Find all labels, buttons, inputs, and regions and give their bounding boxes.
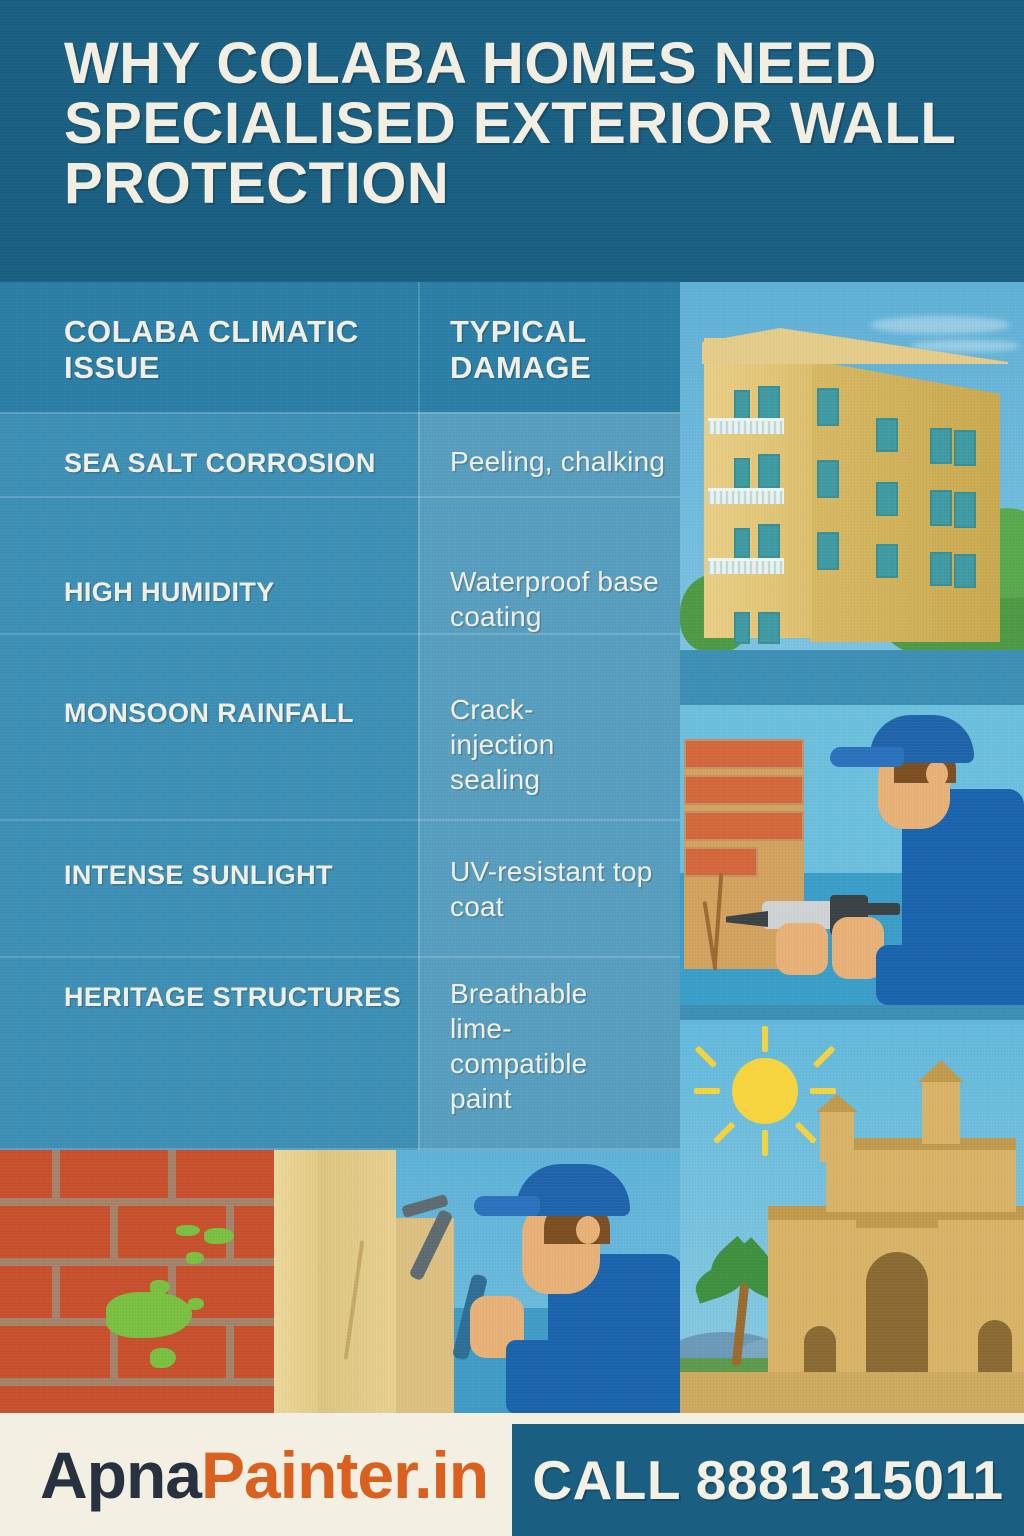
gateway-of-india-illustration (680, 1020, 1024, 1413)
call-cta-box[interactable]: CALL 8881315011 (512, 1424, 1024, 1536)
column-header-damage: TYPICAL DAMAGE (450, 314, 660, 386)
row-divider (0, 496, 680, 498)
column-header-issue: COLABA CLIMATIC ISSUE (64, 314, 414, 386)
window (734, 528, 750, 558)
window (876, 418, 898, 452)
gateway-frieze (856, 1212, 938, 1228)
window (734, 390, 750, 420)
infographic-poster: WHY COLABA HOMES NEED SPECIALISED EXTERI… (0, 0, 1024, 1536)
brand-logo[interactable]: ApnaPainter.in (40, 1441, 488, 1509)
cap-brim (474, 1196, 540, 1216)
worker-sleeve (876, 945, 956, 1005)
title-band: WHY COLABA HOMES NEED SPECIALISED EXTERI… (0, 0, 1024, 282)
row-divider (0, 819, 680, 821)
call-phone-number: CALL 8881315011 (532, 1448, 1003, 1512)
worker-sleeve (506, 1340, 570, 1413)
window (758, 386, 780, 420)
table-row-issue: SEA SALT CORROSION (64, 448, 414, 479)
gateway-plinth (680, 1372, 1024, 1413)
building-illustration (680, 282, 1024, 650)
worker-tool-illustration (396, 1150, 680, 1413)
window (930, 428, 952, 464)
mortar-joint (52, 1266, 60, 1318)
table-row-damage: Peeling, chalking (450, 444, 675, 479)
table-row-issue: HIGH HUMIDITY (64, 577, 414, 608)
gateway-turret (922, 1078, 960, 1144)
window (758, 524, 780, 558)
algae-brick-wall-illustration (0, 1150, 396, 1413)
window (876, 482, 898, 516)
logo-text-apna: Apna (40, 1438, 201, 1512)
algae-patch (188, 1298, 204, 1310)
sun-ray (810, 1088, 836, 1094)
crack-injection-illustration (680, 705, 1024, 1005)
window (758, 612, 780, 644)
window (817, 532, 839, 570)
table-row-issue: HERITAGE STRUCTURES (64, 982, 434, 1013)
window (876, 544, 898, 578)
window (954, 492, 976, 528)
window (817, 388, 839, 426)
sun-icon (732, 1058, 798, 1124)
sun-ray (762, 1130, 768, 1156)
algae-patch (150, 1280, 170, 1294)
window (930, 490, 952, 526)
window (734, 612, 750, 644)
worker-hand (776, 923, 828, 975)
algae-patch (150, 1348, 176, 1368)
window (758, 454, 780, 488)
brick-row (684, 775, 804, 805)
brick-row (684, 811, 804, 841)
window (734, 458, 750, 488)
table-row-damage: Breathable lime-compatible paint (450, 976, 645, 1116)
brick-row (684, 739, 804, 769)
table-row-issue: MONSOON RAINFALL (64, 698, 414, 729)
gateway-upper-cornice (826, 1138, 1016, 1150)
worker-ear (926, 761, 948, 787)
balcony (708, 488, 784, 504)
window (930, 552, 952, 586)
plaster-edge (274, 1150, 318, 1413)
table-row-damage: Crack-injection sealing (450, 692, 610, 797)
mortar-joint (226, 1326, 234, 1378)
balcony (708, 418, 784, 434)
table-row-damage: Waterproof base coating (450, 564, 675, 634)
row-divider (0, 956, 680, 958)
mortar-joint (52, 1150, 60, 1202)
window (954, 554, 976, 588)
window (817, 460, 839, 498)
footer-bar: ApnaPainter.in CALL 8881315011 (0, 1413, 1024, 1536)
row-divider (0, 412, 680, 414)
algae-patch (106, 1292, 192, 1338)
balcony (708, 558, 784, 574)
logo-text-tld: .in (414, 1438, 488, 1512)
window (954, 430, 976, 466)
sun-ray (694, 1088, 720, 1094)
caulk-gun-rod (866, 903, 900, 915)
mortar-joint (110, 1206, 118, 1258)
cloud-shape (870, 316, 1010, 334)
table-row-issue: INTENSE SUNLIGHT (64, 860, 414, 891)
cap-brim (830, 747, 904, 767)
page-title: WHY COLABA HOMES NEED SPECIALISED EXTERI… (64, 34, 964, 214)
mortar-joint (168, 1150, 176, 1202)
worker-ear (576, 1216, 600, 1244)
table-row-damage: UV-resistant top coat (450, 854, 675, 924)
sun-ray (762, 1026, 768, 1052)
algae-patch (176, 1225, 200, 1236)
logo-text-painter: Painter (201, 1438, 414, 1512)
gateway-turret (820, 1108, 854, 1162)
gateway-main-arch (866, 1252, 928, 1388)
